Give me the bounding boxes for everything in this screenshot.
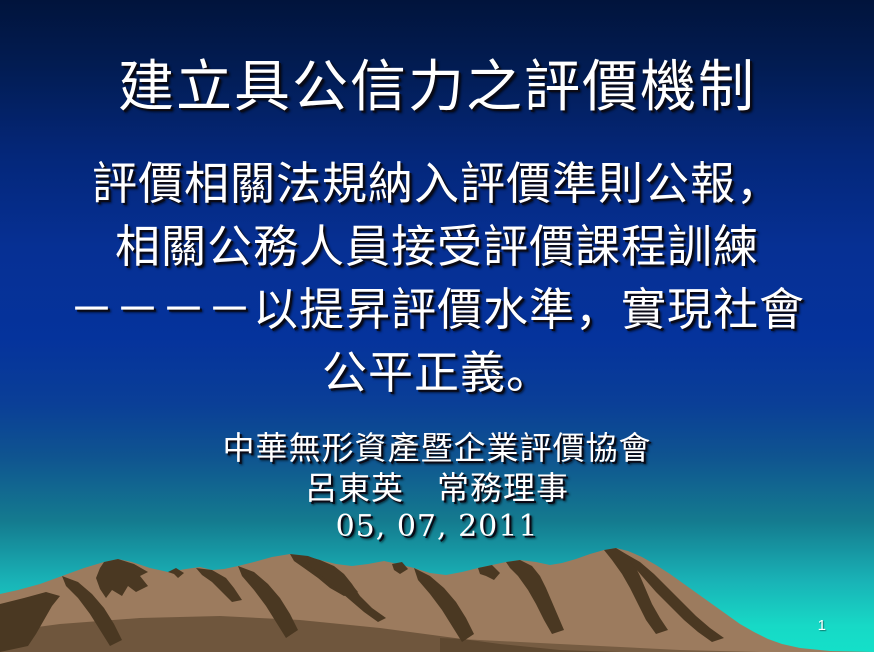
- presentation-date: 05, 07, 2011: [0, 508, 874, 546]
- page-title: 建立具公信力之評價機制: [0, 56, 874, 120]
- presenter-name: 呂東英 常務理事: [0, 468, 874, 508]
- body-line-1: 評價相關法規納入評價準則公報，: [52, 152, 822, 215]
- slide-text-content: 建立具公信力之評價機制 評價相關法規納入評價準則公報， 相關公務人員接受評價課程…: [0, 0, 874, 652]
- slide-credits: 中華無形資產暨企業評價協會 呂東英 常務理事 05, 07, 2011: [0, 428, 874, 546]
- page-number: 1: [818, 617, 826, 634]
- organization-name: 中華無形資產暨企業評價協會: [0, 428, 874, 468]
- body-line-2: 相關公務人員接受評價課程訓練: [52, 215, 822, 278]
- body-line-3: －－－－以提昇評價水準，實現社會: [52, 278, 822, 341]
- body-line-4: 公平正義。: [52, 341, 822, 404]
- slide-body: 評價相關法規納入評價準則公報， 相關公務人員接受評價課程訓練 －－－－以提昇評價…: [52, 152, 822, 404]
- presentation-slide: 建立具公信力之評價機制 評價相關法規納入評價準則公報， 相關公務人員接受評價課程…: [0, 0, 874, 652]
